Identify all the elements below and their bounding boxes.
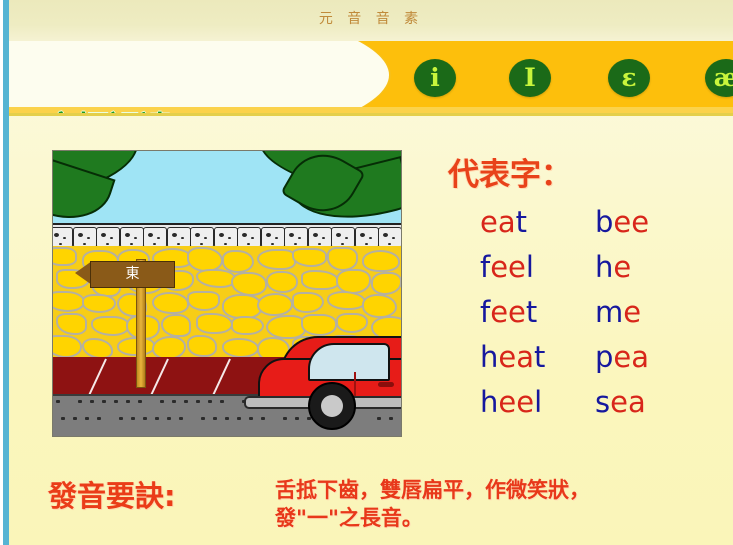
word-segment: e <box>613 250 631 284</box>
wall-cobble <box>327 247 358 271</box>
top-band: 元 音 音 素 <box>9 0 733 41</box>
word-segment: p <box>595 340 613 374</box>
asphalt-speck <box>237 417 241 420</box>
asphalt-speck <box>208 400 212 403</box>
car-wheel-hub <box>321 395 343 417</box>
word-segment: ee <box>498 385 534 419</box>
wall-cobble <box>161 314 191 337</box>
wall-cobble <box>56 313 87 335</box>
wall-cobble <box>187 335 217 357</box>
wall-cobble <box>222 338 259 358</box>
car-door-handle <box>378 382 394 387</box>
asphalt-speck <box>201 417 205 420</box>
asphalt-speck <box>114 400 118 403</box>
example-word-eat: eat <box>480 205 595 239</box>
example-word-row: feetme <box>480 295 730 340</box>
example-word-bee: bee <box>595 205 730 239</box>
asphalt-speck <box>143 417 147 420</box>
scene-illustration: 東 <box>52 150 402 437</box>
asphalt-speck <box>283 417 287 420</box>
wall-cobble <box>52 335 82 358</box>
wall-stone <box>52 227 73 248</box>
asphalt-speck <box>119 417 123 420</box>
asphalt-speck <box>160 400 164 403</box>
asphalt-speck <box>56 400 60 403</box>
wall-cobble <box>301 314 337 336</box>
asphalt-speck <box>389 417 393 420</box>
example-word-feet: feet <box>480 295 595 329</box>
wall-cobble <box>301 270 340 290</box>
wall-stone <box>308 227 332 248</box>
wall-stone <box>355 227 379 248</box>
word-segment: ee <box>490 295 526 329</box>
red-car-graphic <box>258 336 402 414</box>
wall-cobble <box>196 313 233 334</box>
slide-root: 元 音 音 素 音標認讀 iIɛæ 東 <box>0 0 733 545</box>
word-segment: ea <box>613 340 649 374</box>
asphalt-speck <box>225 417 229 420</box>
example-word-row: heelsea <box>480 385 730 430</box>
word-segment: s <box>595 385 610 419</box>
word-segment: l <box>534 385 542 419</box>
asphalt-speck <box>138 400 142 403</box>
word-segment: ea <box>498 340 534 374</box>
word-segment: b <box>595 205 613 239</box>
example-word-row: eatbee <box>480 205 730 250</box>
wall-cobble <box>196 269 236 288</box>
example-word-row: feelhe <box>480 250 730 295</box>
wall-cobble <box>257 249 296 270</box>
phonetic-symbol-ash[interactable]: æ <box>705 59 733 97</box>
pronunciation-tip-label: 發音要訣: <box>48 473 176 515</box>
asphalt-speck <box>249 417 253 420</box>
example-word-heel: heel <box>480 385 595 419</box>
word-segment: f <box>480 295 490 329</box>
word-segment: ee <box>613 205 649 239</box>
example-word-feel: feel <box>480 250 595 284</box>
wall-cobble <box>362 250 400 272</box>
asphalt-speck <box>184 400 188 403</box>
asphalt-speck <box>85 417 89 420</box>
example-word-pea: pea <box>595 340 730 374</box>
word-segment: ea <box>610 385 646 419</box>
wall-cobble <box>231 316 264 335</box>
example-words-heading: 代表字： <box>448 149 572 194</box>
wall-cobble <box>82 294 116 313</box>
wall-cobble <box>292 292 324 313</box>
asphalt-speck <box>377 417 381 420</box>
wall-cobble <box>91 316 129 336</box>
phonetic-symbol-list: iIɛæ <box>9 41 733 115</box>
asphalt-speck <box>213 417 217 420</box>
asphalt-speck <box>73 417 77 420</box>
left-accent-strip <box>0 0 9 545</box>
asphalt-speck <box>90 400 94 403</box>
word-segment: f <box>480 250 490 284</box>
example-word-heat: heat <box>480 340 595 374</box>
asphalt-speck <box>131 417 135 420</box>
wall-cobble <box>327 291 366 310</box>
wall-stone <box>190 227 214 248</box>
wall-cobble <box>82 338 113 359</box>
word-segment: h <box>480 385 498 419</box>
asphalt-speck <box>196 400 200 403</box>
wall-cobble <box>266 271 298 293</box>
phonetic-symbol-small-cap-i[interactable]: I <box>509 59 551 97</box>
wall-cobble <box>152 292 189 314</box>
example-word-sea: sea <box>595 385 730 419</box>
wall-cobble <box>362 294 397 318</box>
asphalt-speck <box>261 417 265 420</box>
wall-cobble <box>257 293 293 316</box>
wall-stone <box>143 227 167 248</box>
wall-stone <box>120 227 144 248</box>
wall-cobble <box>371 272 402 295</box>
pronunciation-tip-text: 舌抵下齒，雙唇扁平，作微笑狀， 發"一"之長音。 <box>275 476 725 532</box>
example-word-me: me <box>595 295 730 329</box>
wall-cobble <box>336 313 368 333</box>
asphalt-speck <box>155 417 159 420</box>
word-segment: l <box>526 250 534 284</box>
word-segment: m <box>595 295 623 329</box>
word-segment: t <box>534 340 545 374</box>
asphalt-speck <box>172 400 176 403</box>
word-segment: h <box>480 340 498 374</box>
wall-cobble <box>292 248 327 267</box>
example-word-he: he <box>595 250 730 284</box>
wall-stone <box>167 227 191 248</box>
wall-cobble <box>187 291 220 311</box>
signpost-label: 東 <box>90 261 175 288</box>
asphalt-speck <box>61 417 65 420</box>
word-segment: ee <box>490 250 526 284</box>
word-segment: t <box>526 295 537 329</box>
asphalt-speck <box>295 417 299 420</box>
asphalt-speck <box>78 400 82 403</box>
wall-stone <box>331 227 355 248</box>
example-word-row: heatpea <box>480 340 730 385</box>
asphalt-speck <box>102 400 106 403</box>
phonetic-symbol-i[interactable]: i <box>414 59 456 97</box>
asphalt-speck <box>179 417 183 420</box>
wall-cobble <box>52 291 85 312</box>
wall-stone <box>214 227 238 248</box>
word-segment: h <box>595 250 613 284</box>
word-segment: e <box>623 295 641 329</box>
wall-stone <box>378 227 402 248</box>
wall-stone <box>284 227 308 248</box>
car-wheel <box>308 382 356 430</box>
asphalt-speck <box>126 400 130 403</box>
wall-cobble <box>231 272 267 296</box>
pronunciation-tip-line-2: 發"一"之長音。 <box>275 504 725 532</box>
asphalt-speck <box>97 417 101 420</box>
header-banner: 音標認讀 iIɛæ <box>9 41 733 115</box>
wall-stone <box>73 227 97 248</box>
wall-stone <box>96 227 120 248</box>
phonetic-symbol-epsilon[interactable]: ɛ <box>608 59 650 97</box>
wall-cobble <box>52 247 77 266</box>
word-segment: ea <box>480 205 516 239</box>
word-segment: t <box>516 205 527 239</box>
header-divider <box>9 113 733 116</box>
wall-stone <box>237 227 261 248</box>
top-caption: 元 音 音 素 <box>9 8 733 28</box>
pronunciation-tip-line-1: 舌抵下齒，雙唇扁平，作微笑狀， <box>275 476 725 504</box>
example-words-grid: eatbeefeelhefeetmeheatpeaheelsea <box>480 205 730 430</box>
wall-stone <box>261 227 285 248</box>
asphalt-speck <box>167 417 171 420</box>
car-window <box>308 343 390 381</box>
asphalt-speck <box>220 400 224 403</box>
left-accent-strip-inner <box>0 0 3 545</box>
